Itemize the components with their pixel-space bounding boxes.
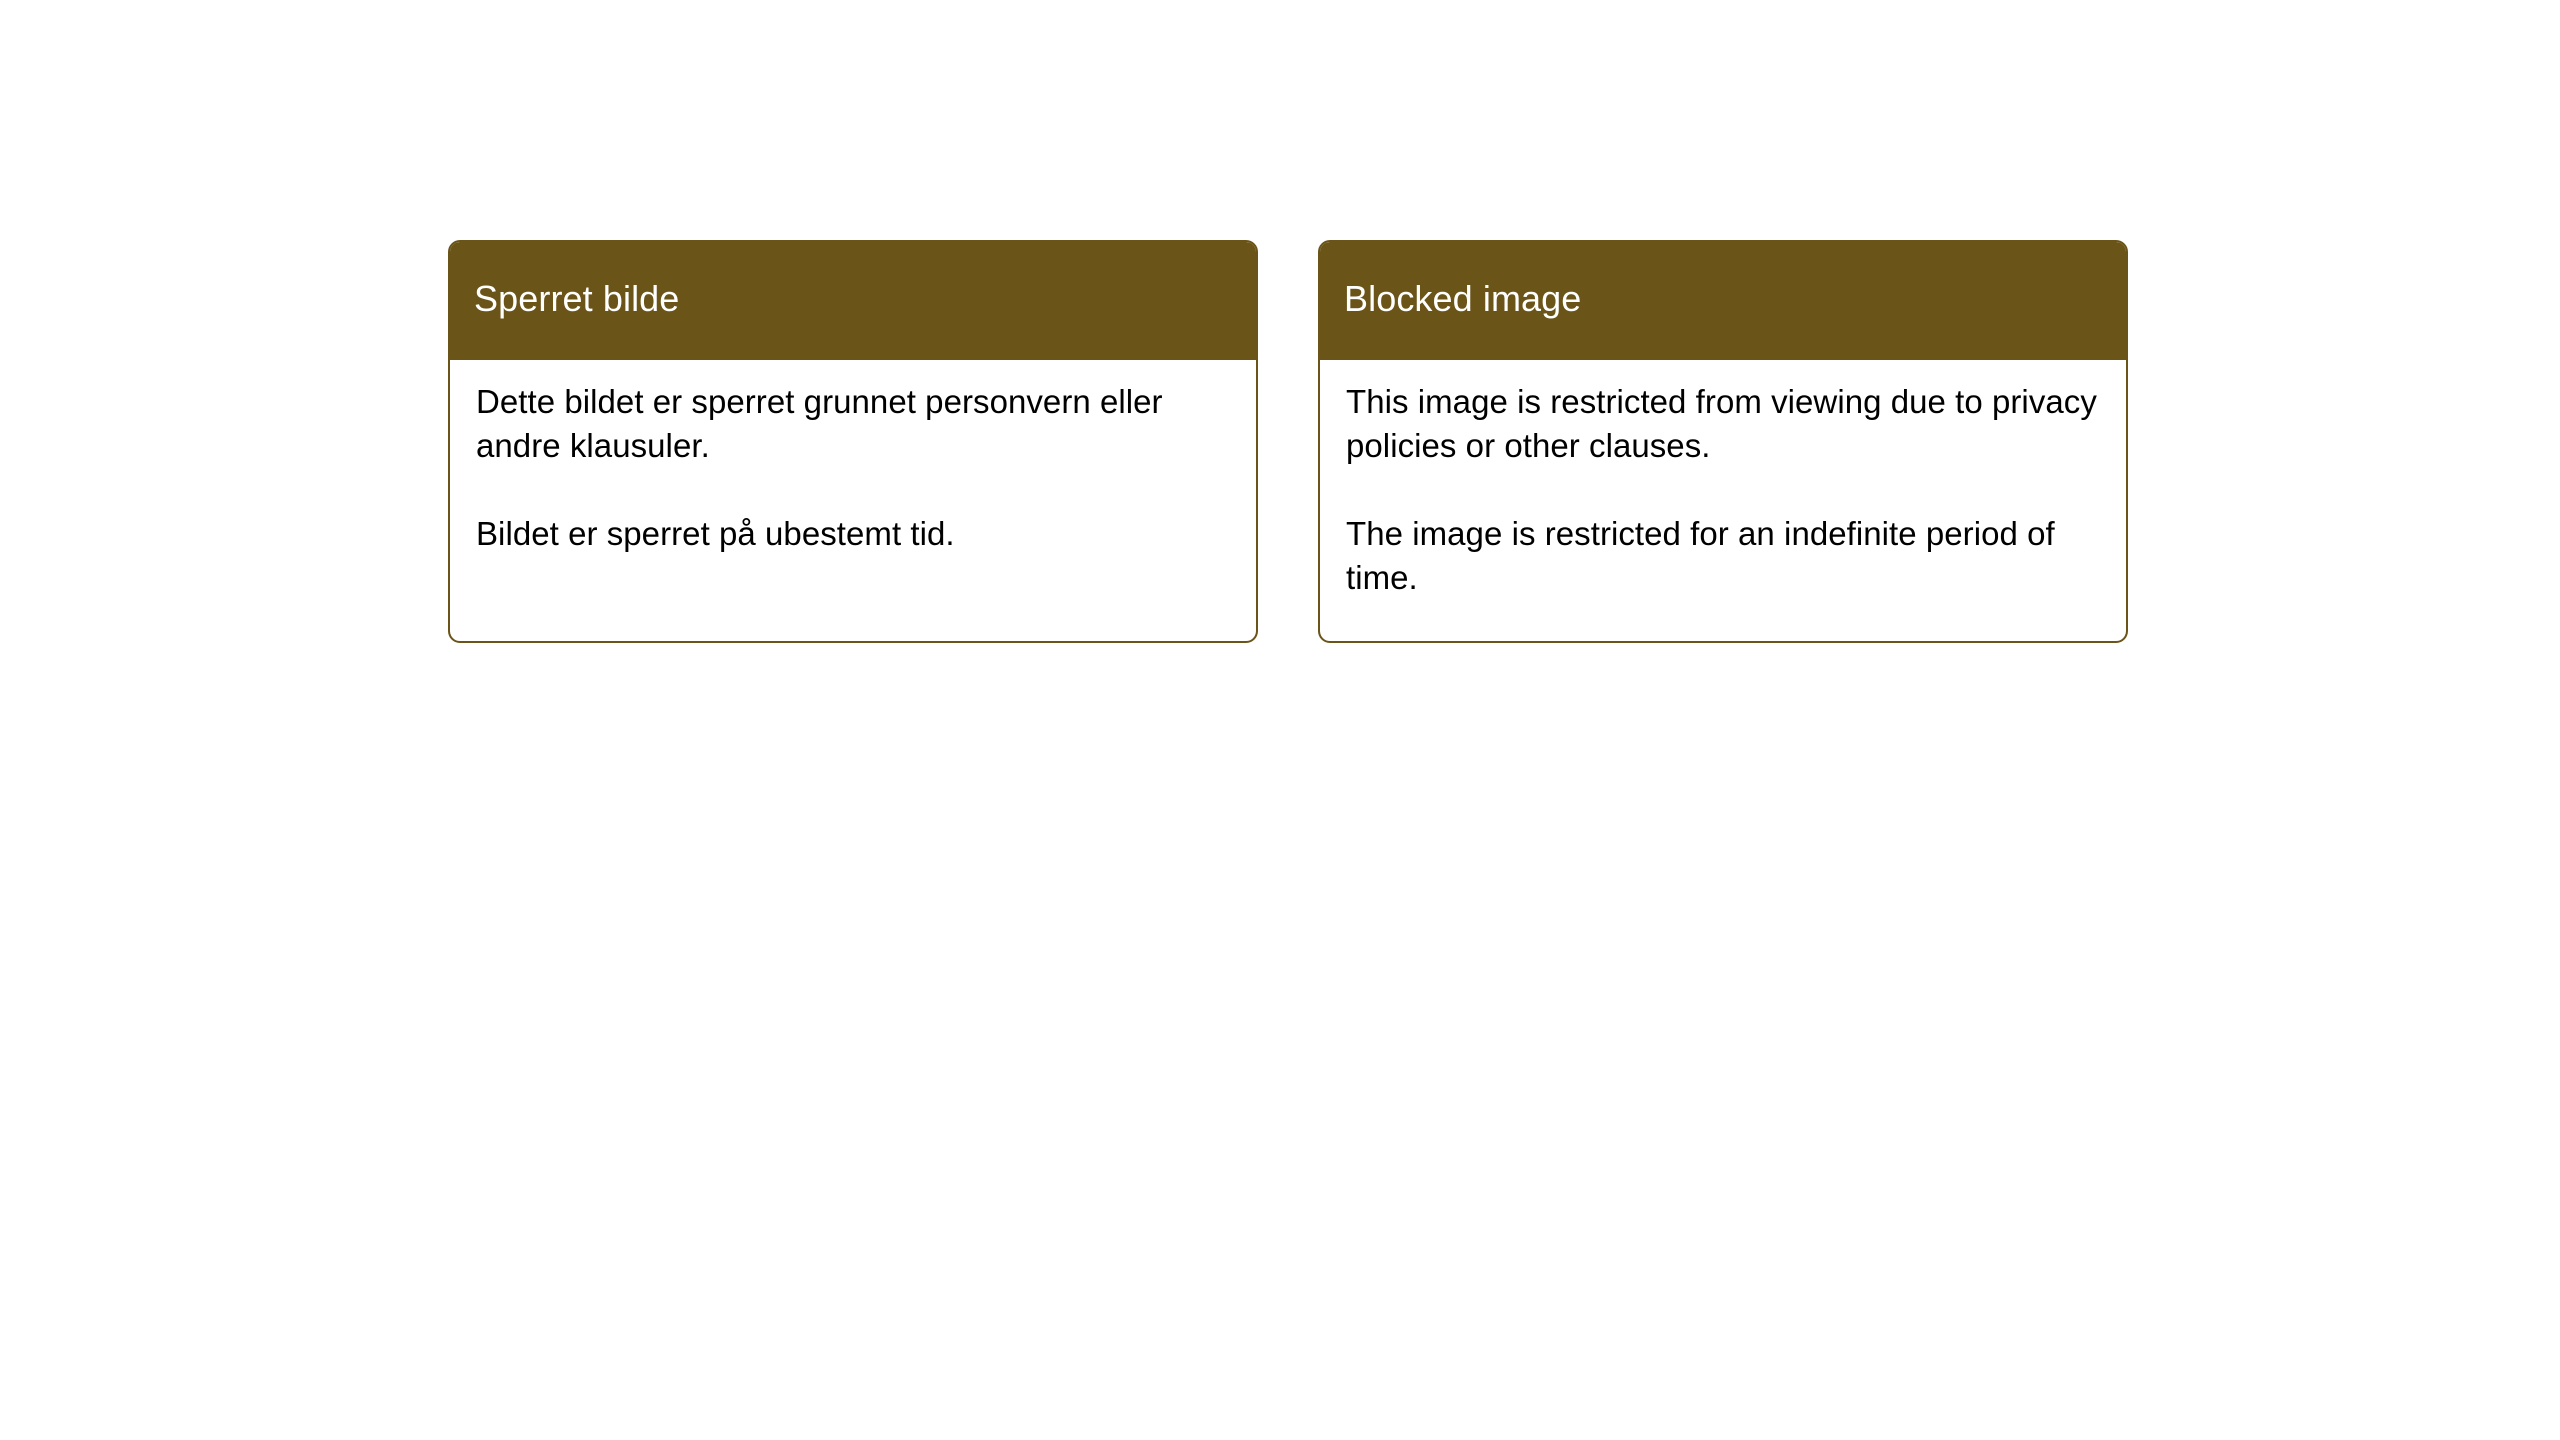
blocked-image-notice-group: Sperret bilde Dette bildet er sperret gr… — [448, 240, 2128, 643]
notice-paragraph-duration-en: The image is restricted for an indefinit… — [1346, 512, 2100, 600]
notice-paragraph-reason-en: This image is restricted from viewing du… — [1346, 380, 2100, 468]
notice-header-en: Blocked image — [1318, 240, 2128, 360]
notice-body-no: Dette bildet er sperret grunnet personve… — [450, 360, 1256, 641]
blocked-image-notice-card-en: Blocked image This image is restricted f… — [1318, 240, 2128, 643]
notice-header-no: Sperret bilde — [448, 240, 1258, 360]
notice-paragraph-duration-no: Bildet er sperret på ubestemt tid. — [476, 512, 1230, 556]
notice-paragraph-reason-no: Dette bildet er sperret grunnet personve… — [476, 380, 1230, 468]
blocked-image-notice-card-no: Sperret bilde Dette bildet er sperret gr… — [448, 240, 1258, 643]
notice-body-en: This image is restricted from viewing du… — [1320, 360, 2126, 641]
notice-title-en: Blocked image — [1344, 278, 1581, 320]
notice-title-no: Sperret bilde — [474, 278, 679, 320]
